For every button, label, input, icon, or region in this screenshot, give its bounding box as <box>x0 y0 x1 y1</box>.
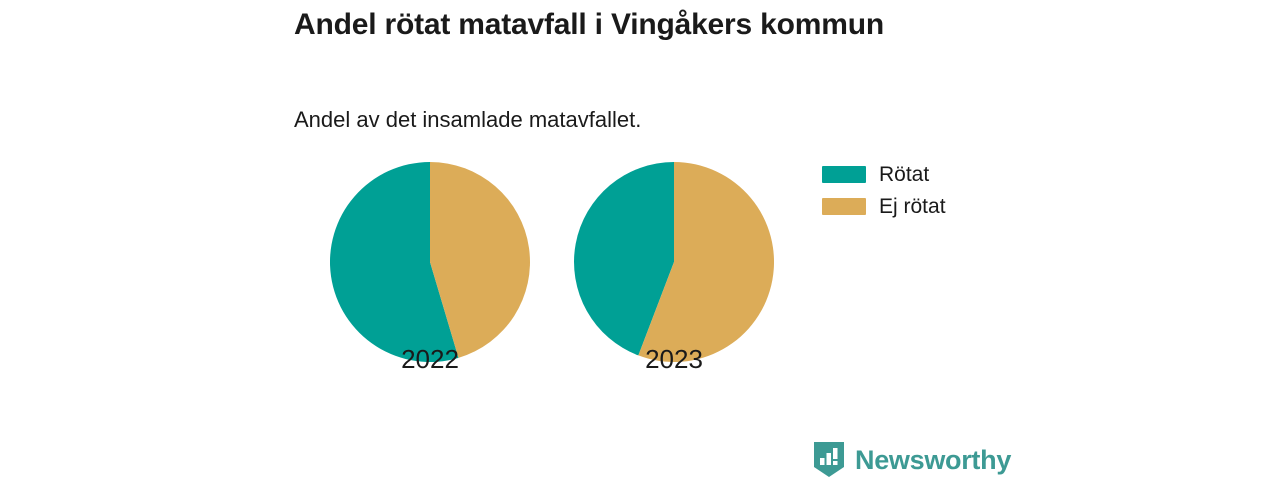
legend-swatch-ej-rotat <box>822 198 866 215</box>
pie-chart-2022: 2022 <box>330 162 530 362</box>
chart-container: Andel rötat matavfall i Vingåkers kommun… <box>0 0 1280 480</box>
pie-slices-2022 <box>330 162 530 362</box>
chart-subtitle: Andel av det insamlade matavfallet. <box>294 105 894 135</box>
pie-year-label-2023: 2023 <box>574 344 774 374</box>
pie-slices-2023 <box>574 162 774 362</box>
newsworthy-branding: Newsworthy <box>812 440 1011 479</box>
legend-label-rotat: Rötat <box>879 163 929 186</box>
chart-legend: Rötat Ej rötat <box>822 163 946 218</box>
chart-title: Andel rötat matavfall i Vingåkers kommun <box>294 4 894 45</box>
legend-item-ej-rotat[interactable]: Ej rötat <box>822 195 946 218</box>
legend-item-rotat[interactable]: Rötat <box>822 163 946 186</box>
pie-svg-2023 <box>574 162 774 362</box>
pie-year-label-2022: 2022 <box>330 344 530 374</box>
pie-chart-2023: 2023 <box>574 162 774 362</box>
legend-label-ej-rotat: Ej rötat <box>879 195 946 218</box>
newsworthy-logo-icon <box>812 440 846 479</box>
newsworthy-wordmark: Newsworthy <box>855 444 1011 476</box>
legend-swatch-rotat <box>822 166 866 183</box>
pie-svg-2022 <box>330 162 530 362</box>
